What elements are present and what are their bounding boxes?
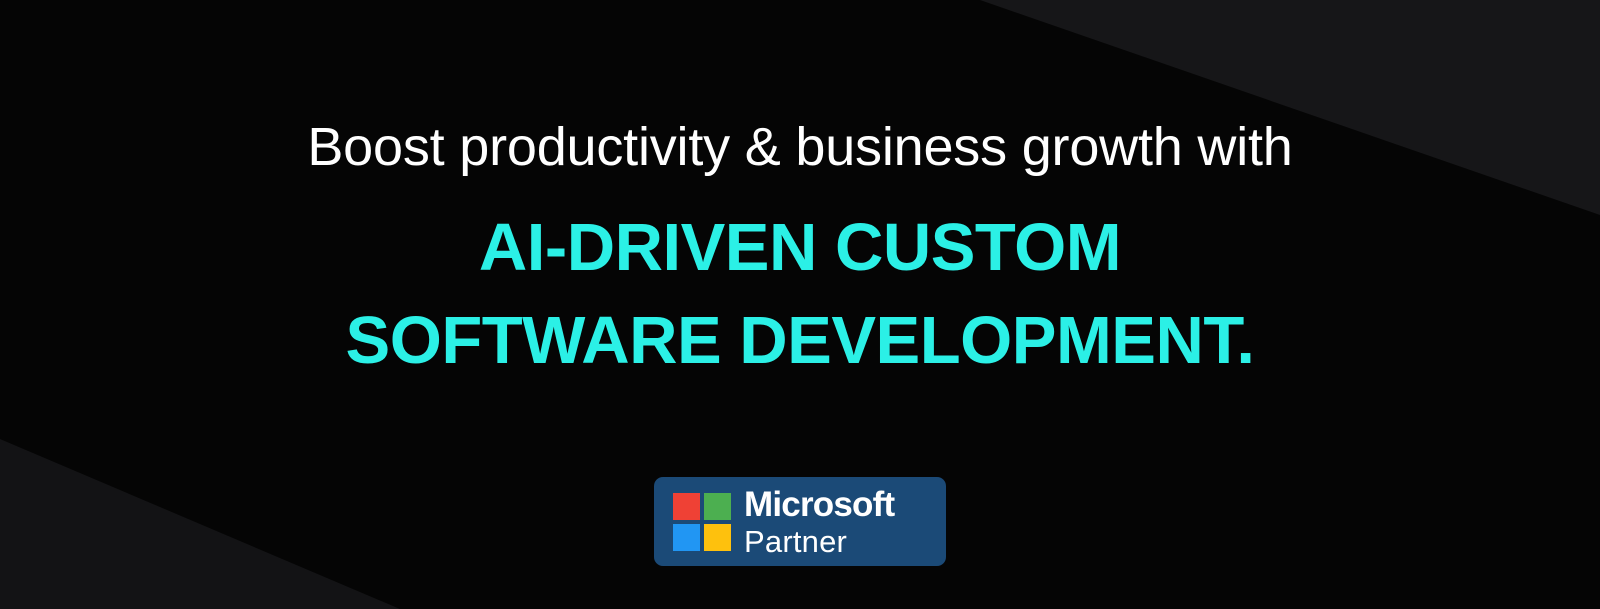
hero-eyebrow-text: Boost productivity & business growth wit…: [307, 118, 1292, 176]
microsoft-logo-square-yellow: [704, 524, 731, 551]
microsoft-logo-square-red: [673, 493, 700, 520]
microsoft-logo-square-blue: [673, 524, 700, 551]
badge-subtitle: Partner: [744, 526, 894, 557]
hero-content: Boost productivity & business growth wit…: [0, 0, 1600, 609]
hero-banner: Boost productivity & business growth wit…: [0, 0, 1600, 609]
microsoft-logo-icon: [673, 493, 731, 551]
badge-text-group: Microsoft Partner: [744, 487, 894, 557]
hero-headline-line-1: AI-DRIVEN CUSTOM: [346, 202, 1255, 294]
badge-title: Microsoft: [744, 487, 894, 522]
microsoft-logo-square-green: [704, 493, 731, 520]
hero-headline-line-2: SOFTWARE DEVELOPMENT.: [346, 295, 1255, 387]
microsoft-partner-badge[interactable]: Microsoft Partner: [654, 477, 946, 566]
hero-headline: AI-DRIVEN CUSTOM SOFTWARE DEVELOPMENT.: [346, 202, 1255, 387]
